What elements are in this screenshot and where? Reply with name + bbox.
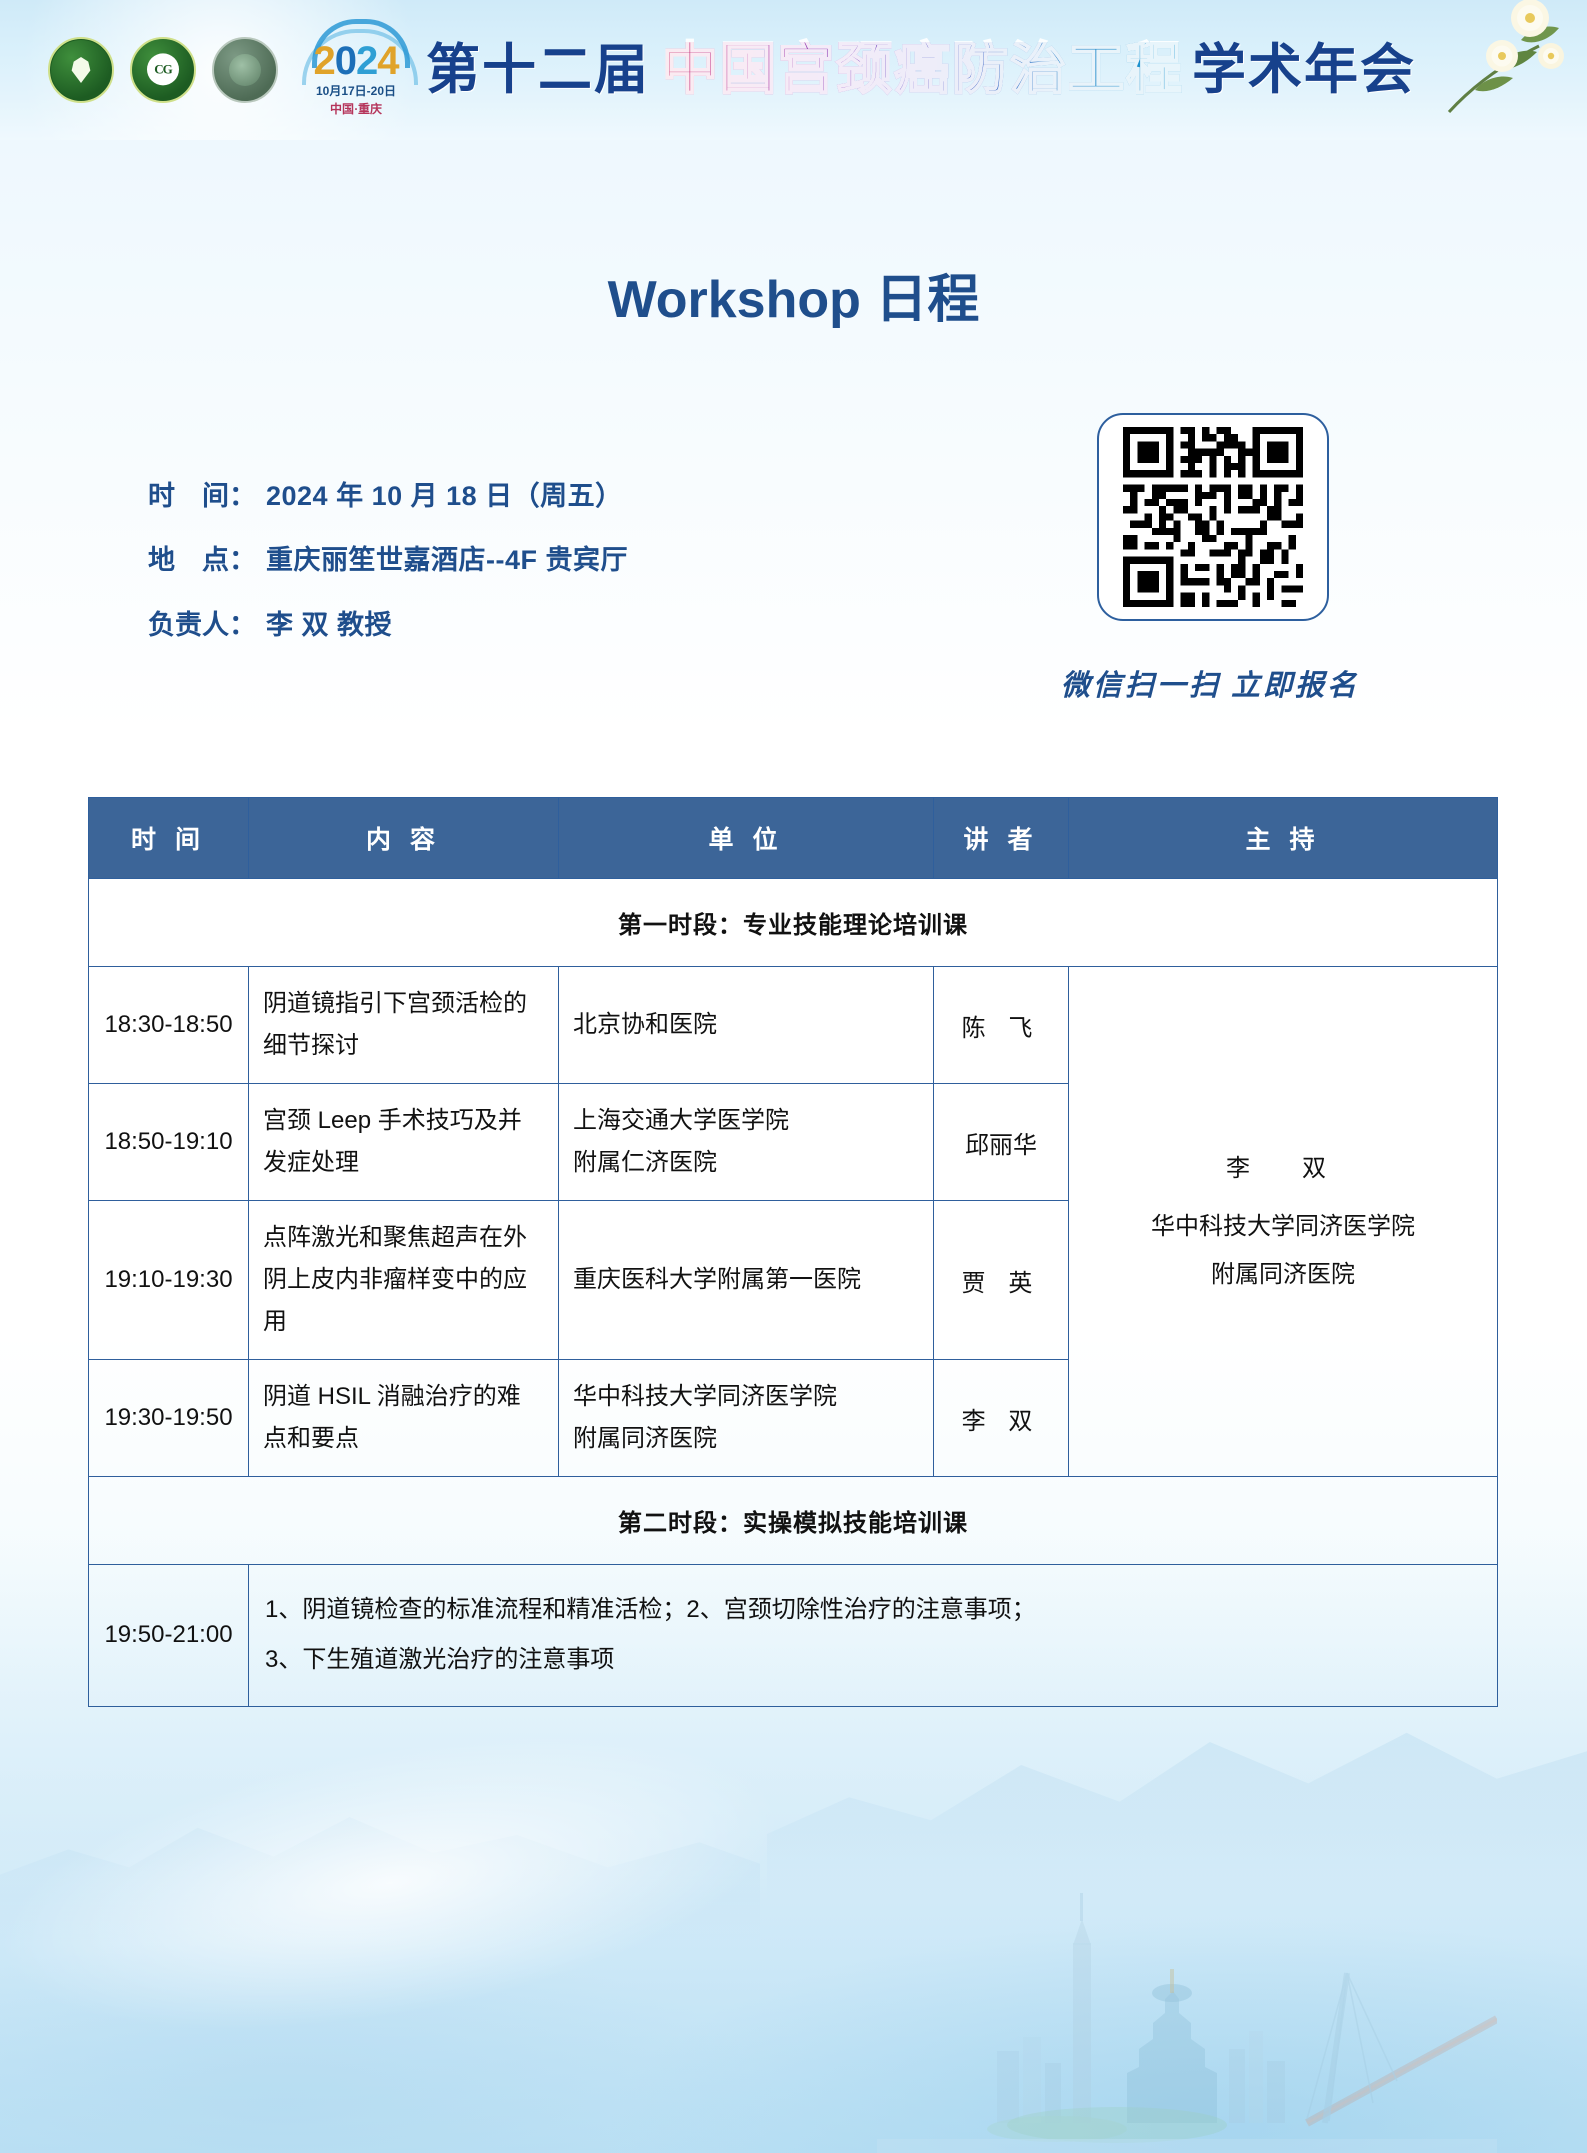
host-affiliation-line1: 华中科技大学同济医学院 [1151, 1213, 1415, 1240]
row5-detail-line1: 1、阴道镜检查的标准流程和精准活检；2、宫颈切除性治疗的注意事项； [265, 1596, 1036, 1623]
row5-time: 19:50-21:00 [89, 1565, 249, 1707]
table-row: 19:50-21:00 1、阴道镜检查的标准流程和精准活检；2、宫颈切除性治疗的… [89, 1565, 1498, 1707]
section-header-row-1: 第一时段：专业技能理论培训课 [89, 879, 1498, 967]
col-header-time: 时 间 [89, 798, 249, 879]
schedule-table: 时 间 内 容 单 位 讲 者 主 持 第一时段：专业技能理论培训课 18:30… [88, 797, 1498, 1707]
section-header-row-2: 第二时段：实操模拟技能培训课 [89, 1477, 1498, 1565]
table-row: 18:30-18:50 阴道镜指引下宫颈活检的细节探讨 北京协和医院 陈 飞 李… [89, 967, 1498, 1084]
col-header-content: 内 容 [249, 798, 559, 879]
row2-unit-line1: 上海交通大学医学院 [573, 1107, 789, 1134]
year-digit-4: 4 [377, 39, 398, 83]
row2-unit: 上海交通大学医学院 附属仁济医院 [559, 1084, 934, 1201]
banner-title-main: 中国宫颈癌防治工程 [662, 42, 1184, 98]
row3-time: 19:10-19:30 [89, 1201, 249, 1360]
section-title-2: 第二时段：实操模拟技能培训课 [89, 1477, 1498, 1565]
camellia-flower-icon [1389, 0, 1569, 124]
qr-code-caption: 微信扫一扫 立即报名 [990, 672, 1430, 701]
meta-value-time: 2024 年 10 月 18 日（周五） [266, 480, 623, 512]
wechat-registration-qr-code[interactable] [1123, 427, 1303, 607]
poster-page: 2024 10月17日-20日 中国·重庆 第十二届 中国宫颈癌防治工程 学术年… [0, 0, 1587, 2153]
col-header-host: 主 持 [1069, 798, 1498, 879]
row1-unit: 北京协和医院 [559, 967, 934, 1084]
row2-unit-line2: 附属仁济医院 [573, 1149, 717, 1176]
schedule-table-wrapper: 时 间 内 容 单 位 讲 者 主 持 第一时段：专业技能理论培训课 18:30… [88, 797, 1498, 1707]
meta-value-organizer: 李 双 教授 [266, 609, 392, 641]
banner-title-prefix: 第十二届 [426, 43, 650, 97]
meta-row-venue: 地 点： 重庆丽笙世嘉酒店--4F 贵宾厅 [148, 544, 908, 576]
conference-year-mark: 2024 10月17日-20日 中国·重庆 [300, 15, 412, 125]
cg-association-logo-icon [130, 37, 196, 103]
row3-content: 点阵激光和聚焦超声在外阴上皮内非瘤样变中的应用 [249, 1201, 559, 1360]
background-mountains-left [0, 1763, 760, 1943]
table-header-row: 时 间 内 容 单 位 讲 者 主 持 [89, 798, 1498, 879]
background-mountains-right [767, 1673, 1587, 1903]
col-header-speaker: 讲 者 [934, 798, 1069, 879]
host-cell: 李 双 华中科技大学同济医学院 附属同济医院 [1069, 967, 1498, 1477]
background-river [0, 1657, 859, 2109]
row1-content: 阴道镜指引下宫颈活检的细节探讨 [249, 967, 559, 1084]
row4-time: 19:30-19:50 [89, 1360, 249, 1477]
conference-banner: 2024 10月17日-20日 中国·重庆 第十二届 中国宫颈癌防治工程 学术年… [0, 0, 1587, 140]
year-digit-1: 2 [314, 39, 335, 83]
qr-code-block[interactable] [1097, 413, 1325, 617]
meta-label-organizer: 负责人： [148, 609, 266, 641]
conference-city: 中国·重庆 [300, 103, 412, 115]
qr-code-frame[interactable] [1097, 413, 1329, 621]
host-affiliation-line2: 附属同济医院 [1211, 1261, 1355, 1288]
row3-unit: 重庆医科大学附属第一医院 [559, 1201, 934, 1360]
row1-time: 18:30-18:50 [89, 967, 249, 1084]
event-meta-block: 时 间： 2024 年 10 月 18 日（周五） 地 点： 重庆丽笙世嘉酒店-… [148, 480, 908, 673]
row4-unit-line1: 华中科技大学同济医学院 [573, 1383, 837, 1410]
meta-row-time: 时 间： 2024 年 10 月 18 日（周五） [148, 480, 908, 512]
row2-speaker: 邱丽华 [934, 1084, 1069, 1201]
host-name: 李 双 [1079, 1145, 1487, 1193]
row4-speaker: 李 双 [934, 1360, 1069, 1477]
row5-detail-line2: 3、下生殖道激光治疗的注意事项 [265, 1646, 614, 1673]
row4-unit-line2: 附属同济医院 [573, 1425, 717, 1452]
cppc-association-logo-icon [212, 37, 278, 103]
row2-time: 18:50-19:10 [89, 1084, 249, 1201]
row4-content: 阴道 HSIL 消融治疗的难点和要点 [249, 1360, 559, 1477]
year-digits: 2024 [300, 41, 412, 81]
row2-content: 宫颈 Leep 手术技巧及并发症处理 [249, 1084, 559, 1201]
page-title: Workshop 日程 [0, 272, 1587, 329]
row3-speaker: 贾 英 [934, 1201, 1069, 1360]
meta-label-venue: 地 点： [148, 544, 266, 576]
year-digit-2: 0 [335, 39, 356, 83]
row5-detail: 1、阴道镜检查的标准流程和精准活检；2、宫颈切除性治疗的注意事项； 3、下生殖道… [249, 1565, 1498, 1707]
section-title-1: 第一时段：专业技能理论培训课 [89, 879, 1498, 967]
banner-title: 第十二届 中国宫颈癌防治工程 学术年会 [426, 42, 1416, 98]
meta-value-venue: 重庆丽笙世嘉酒店--4F 贵宾厅 [266, 544, 628, 576]
year-digit-3: 2 [356, 39, 377, 83]
chongqing-skyline-illustration [877, 1823, 1497, 2153]
meta-label-time: 时 间： [148, 480, 266, 512]
caibocd-association-logo-icon [48, 37, 114, 103]
conference-dates: 10月17日-20日 [300, 85, 412, 97]
banner-title-suffix: 学术年会 [1192, 43, 1416, 97]
row1-speaker: 陈 飞 [934, 967, 1069, 1084]
row4-unit: 华中科技大学同济医学院 附属同济医院 [559, 1360, 934, 1477]
col-header-unit: 单 位 [559, 798, 934, 879]
association-logos [48, 37, 278, 103]
meta-row-organizer: 负责人： 李 双 教授 [148, 609, 908, 641]
